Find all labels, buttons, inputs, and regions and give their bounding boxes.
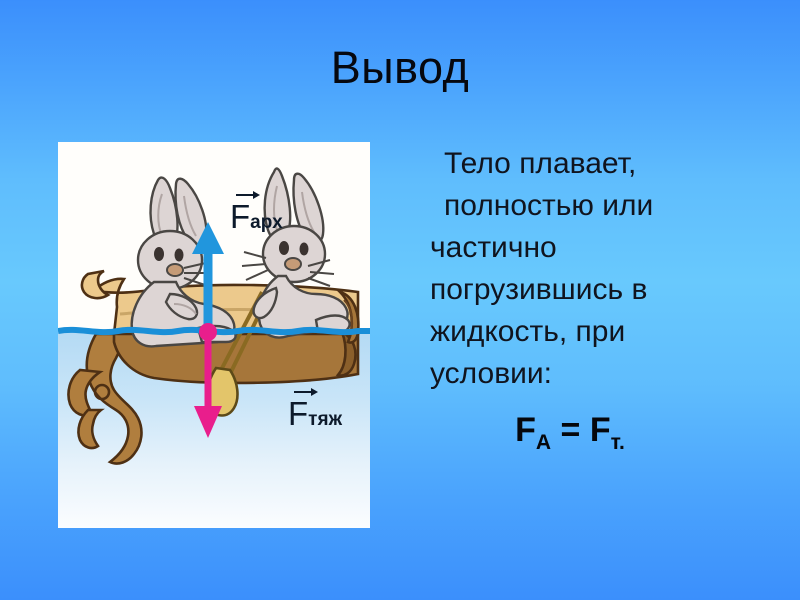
illustration-panel: Fарх Fтяж (58, 142, 370, 528)
conclusion-line: частично (430, 227, 790, 269)
conclusion-text-block: Тело плавает, полностью или частично пог… (430, 143, 790, 455)
buoyant-force-subscript: арх (250, 212, 283, 233)
formula-operator: = (561, 411, 581, 449)
page-title: Вывод (0, 42, 800, 94)
gravity-force-label: Fтяж (288, 387, 342, 430)
equilibrium-formula: FА = Fт. (430, 411, 790, 455)
conclusion-line: Тело плавает, (430, 143, 790, 185)
conclusion-line: жидкость, при (430, 311, 790, 353)
buoyant-force-symbol: F (230, 198, 250, 235)
conclusion-line: условии: (430, 353, 790, 395)
formula-right-subscript: т. (611, 431, 625, 454)
gravity-force-symbol: F (288, 395, 308, 432)
formula-right-symbol: F (590, 411, 611, 449)
vector-arrow-icon (236, 190, 262, 199)
gravity-force-subscript: тяж (308, 409, 342, 430)
water-surface-line (58, 326, 370, 336)
buoyant-force-label: Fарх (230, 190, 283, 233)
formula-left-symbol: F (515, 411, 536, 449)
conclusion-line: погрузившись в (430, 269, 790, 311)
formula-left-subscript: А (536, 431, 551, 454)
vector-arrow-icon (294, 387, 320, 396)
rabbit-left (132, 178, 236, 347)
conclusion-line: полностью или (430, 185, 790, 227)
